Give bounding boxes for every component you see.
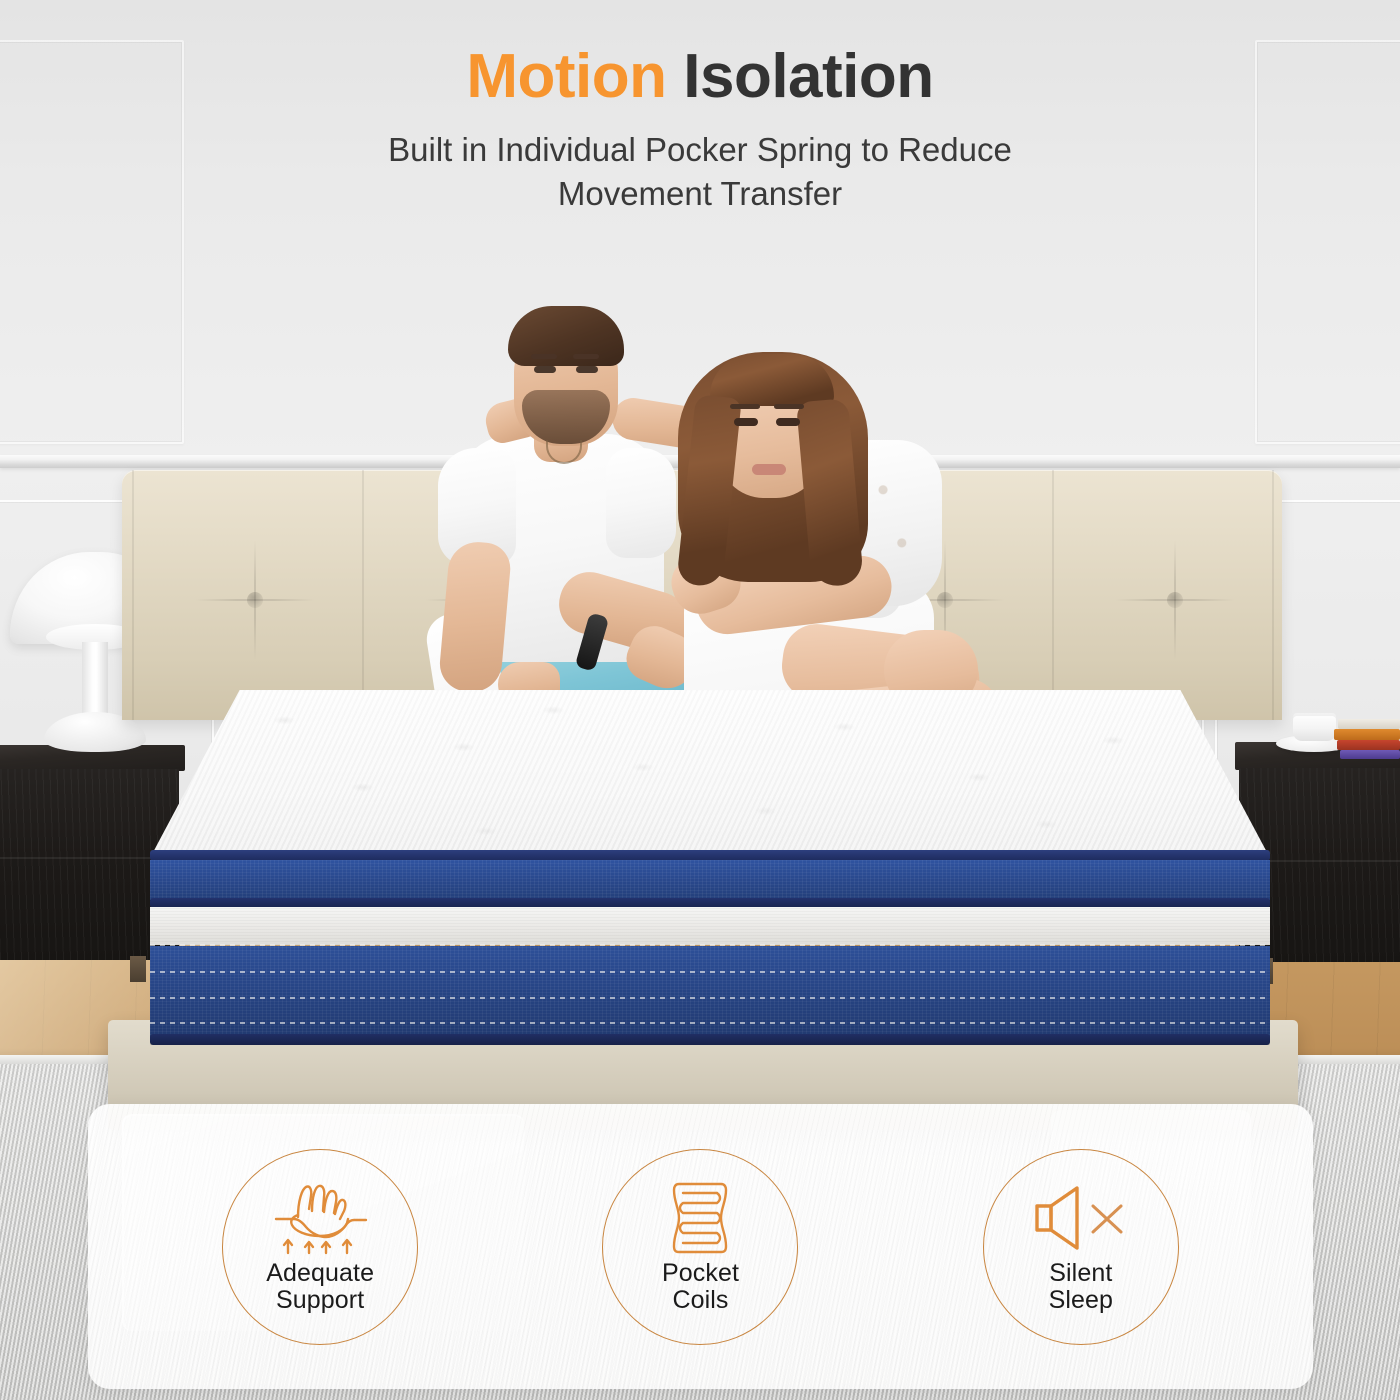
book <box>1334 729 1400 740</box>
muted-speaker-icon <box>1031 1180 1131 1256</box>
woman-lips <box>752 464 786 475</box>
feature-label-line-1: Pocket <box>662 1259 739 1287</box>
product-marketing-image: Motion Isolation Built in Individual Poc… <box>0 0 1400 1400</box>
mattress-navy-piping-bottom <box>150 1034 1270 1045</box>
woman-eye-right <box>776 418 800 426</box>
feature-list: Adequate Support Pocket Coils <box>88 1104 1313 1389</box>
feature-label-line-2: Sleep <box>1049 1286 1113 1314</box>
hand-support-icon <box>268 1180 372 1256</box>
feature-adequate-support: Adequate Support <box>222 1149 418 1345</box>
headboard-tuft <box>247 592 263 608</box>
headboard-tuft <box>1167 592 1183 608</box>
nightstand-drawer-seam <box>0 857 173 859</box>
woman-eye-left <box>734 418 758 426</box>
feature-label-line-2: Coils <box>672 1286 728 1314</box>
feature-silent-sleep: Silent Sleep <box>983 1149 1179 1345</box>
feature-label-line-1: Silent <box>1049 1259 1112 1287</box>
nightstand-leg <box>130 956 146 982</box>
subtitle-line-2: Movement Transfer <box>558 175 842 212</box>
man-eye-left <box>534 366 556 373</box>
man-eyebrow-right <box>573 354 599 359</box>
book <box>1337 740 1400 750</box>
subtitle-line-1: Built in Individual Pocker Spring to Red… <box>388 131 1012 168</box>
feature-label: Adequate Support <box>266 1260 374 1314</box>
woman-eyebrow-right <box>774 404 804 409</box>
man-eyebrow-left <box>531 354 557 359</box>
mattress-navy-band-upper <box>150 860 1270 900</box>
header: Motion Isolation Built in Individual Poc… <box>0 0 1400 216</box>
mattress-stitch-line <box>150 971 1270 973</box>
feature-pocket-coils: Pocket Coils <box>602 1149 798 1345</box>
mattress-quilt-pattern <box>150 690 1270 858</box>
coffee-cup <box>1293 713 1336 741</box>
title-accent-word: Motion <box>466 42 666 111</box>
title-rest-word: Isolation <box>683 42 933 111</box>
mattress-stitch-line <box>150 1022 1270 1024</box>
feature-panel: Adequate Support Pocket Coils <box>88 1104 1313 1389</box>
book <box>1338 719 1400 729</box>
mattress-stitch-line <box>150 997 1270 999</box>
man-eye-right <box>576 366 598 373</box>
feature-label: Silent Sleep <box>1049 1260 1113 1314</box>
mattress <box>150 690 1270 1045</box>
feature-label-line-1: Adequate <box>266 1259 374 1287</box>
page-subtitle: Built in Individual Pocker Spring to Red… <box>0 128 1400 216</box>
mattress-white-band <box>150 907 1270 945</box>
page-title: Motion Isolation <box>0 0 1400 110</box>
feature-label-line-2: Support <box>276 1286 364 1314</box>
mattress-navy-band-lower <box>150 946 1270 1038</box>
pocket-coil-icon <box>665 1180 735 1256</box>
woman-eyebrow-left <box>730 404 760 409</box>
book <box>1340 750 1400 759</box>
feature-label: Pocket Coils <box>662 1260 739 1314</box>
